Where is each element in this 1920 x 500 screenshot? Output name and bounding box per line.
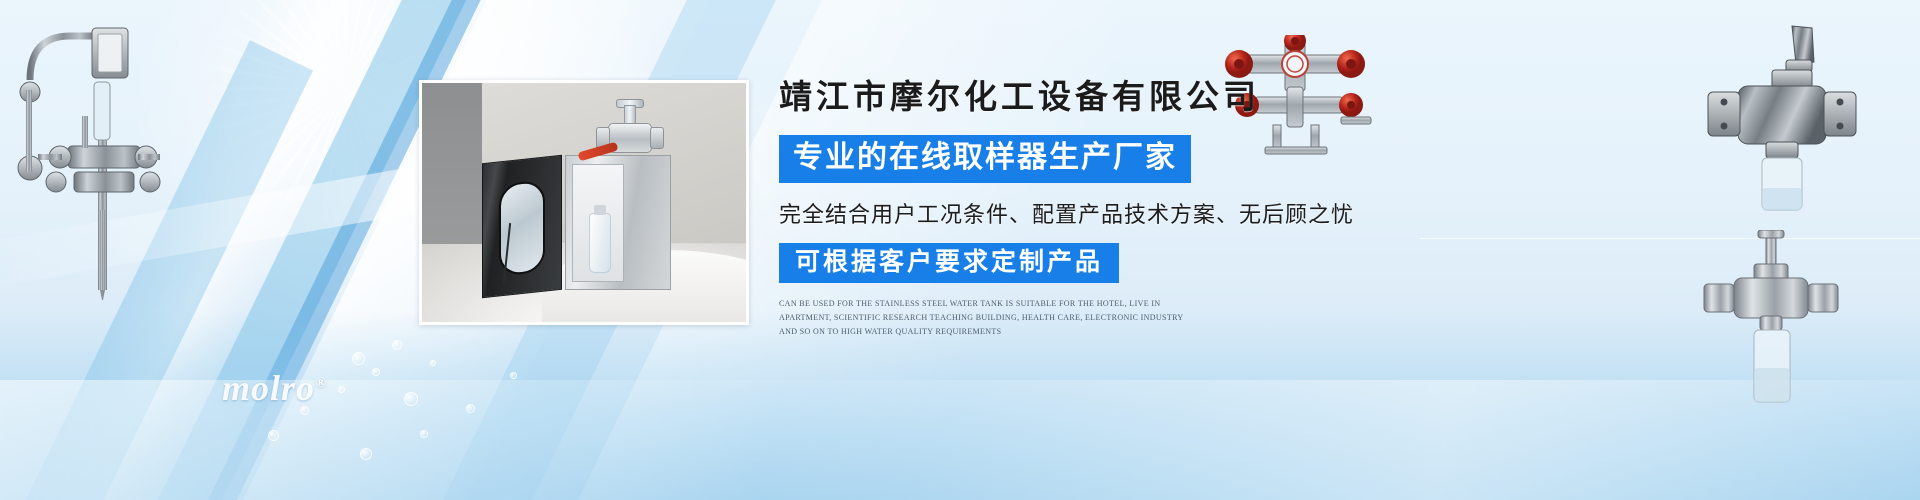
water-bubble-decoration: [338, 386, 345, 393]
company-name: 靖江市摩尔化工设备有限公司: [779, 78, 1419, 119]
water-bubble-decoration: [360, 448, 372, 460]
banner-text-block: 靖江市摩尔化工设备有限公司 专业的在线取样器生产厂家 完全结合用户工况条件、配置…: [779, 78, 1419, 339]
secondary-tagline-badge: 可根据客户要求定制产品: [779, 243, 1119, 283]
water-bubble-decoration: [430, 360, 436, 366]
registered-trademark-icon: ®: [315, 375, 327, 391]
water-bubble-decoration: [404, 392, 418, 406]
photo-valve-flange-right: [650, 127, 664, 149]
water-bubble-decoration: [510, 372, 517, 379]
light-streak-decoration: [0, 0, 438, 500]
water-bubble-decoration: [268, 430, 279, 441]
right-valve-body-image: [1700, 20, 1860, 215]
photo-valve-assembly: [598, 105, 662, 163]
water-bubble-decoration: [352, 352, 365, 365]
water-bubble-decoration: [420, 430, 428, 438]
english-description: CAN BE USED FOR THE STAINLESS STEEL WATE…: [779, 297, 1199, 339]
watermark-text: molro: [222, 368, 315, 408]
water-bubble-decoration: [372, 368, 380, 376]
right-sampling-valve-image: [1700, 230, 1850, 420]
photo-bottle-cap: [594, 205, 606, 215]
photo-sample-bottle: [589, 213, 611, 273]
photo-cabinet: [565, 155, 671, 290]
left-equipment-image: [10, 20, 180, 300]
horizon-line-decoration: [1420, 238, 1920, 239]
product-banner: 靖江市摩尔化工设备有限公司 专业的在线取样器生产厂家 完全结合用户工况条件、配置…: [0, 0, 1920, 500]
water-bubble-decoration: [392, 340, 402, 350]
photo-cabinet-door: [482, 155, 562, 298]
water-bubble-decoration: [466, 404, 475, 413]
subline-text: 完全结合用户工况条件、配置产品技术方案、无后顾之忧: [779, 197, 1419, 229]
product-photo: [419, 80, 749, 325]
photo-cabinet-interior: [572, 164, 624, 282]
light-streak-decoration: [0, 40, 313, 500]
primary-tagline-badge: 专业的在线取样器生产厂家: [779, 135, 1191, 183]
brand-watermark: molro®: [222, 367, 327, 409]
